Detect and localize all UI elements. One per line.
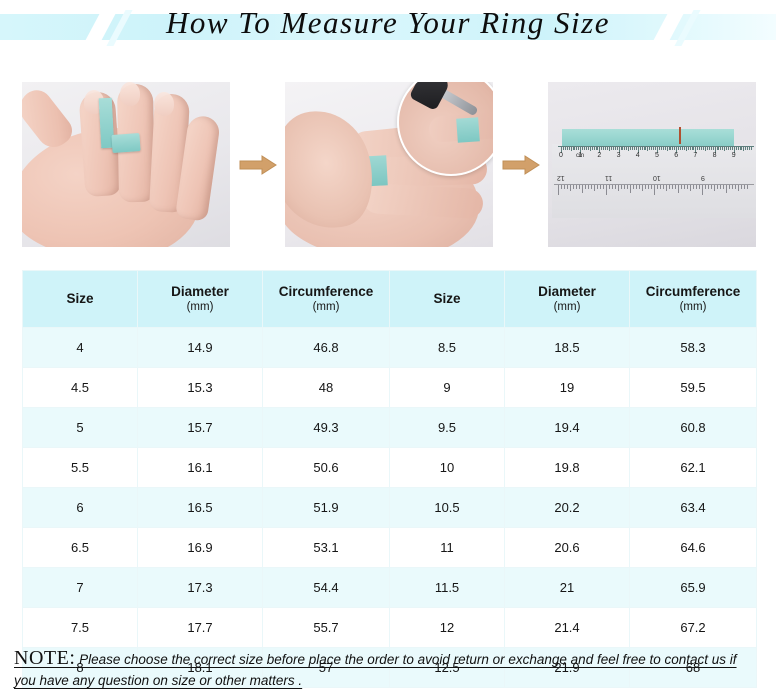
ruler-tick-minor — [582, 147, 583, 150]
ruler-inch-number: 10 — [653, 174, 661, 181]
ruler-inch-tick-minor — [639, 185, 640, 189]
ruler-inch-tick-minor — [648, 185, 649, 189]
ruler-tick-minor — [728, 147, 729, 150]
ruler-inch-tick-minor — [735, 185, 736, 189]
ruler-tick-minor — [663, 147, 664, 150]
ruler-tick-minor — [680, 147, 681, 150]
ruler-tick-minor — [615, 147, 616, 150]
ruler-tick-minor — [667, 147, 668, 151]
ruler-tick-minor — [717, 147, 718, 150]
cell-size: 7 — [23, 568, 138, 608]
note-body: Please choose the correct size before pl… — [14, 652, 737, 688]
ruler-tick-minor — [563, 147, 564, 150]
cell-size: 6.5 — [23, 528, 138, 568]
strip-pen-mark — [679, 127, 681, 144]
paper-strip-wrapped — [111, 133, 140, 153]
ruler-tick-minor — [651, 147, 652, 150]
ruler-tick-minor — [586, 147, 587, 150]
ruler-tick-minor — [628, 147, 629, 151]
ruler-inch-tick-minor — [642, 185, 643, 191]
ruler-tick-minor — [699, 147, 700, 150]
ruler-tick-minor — [697, 147, 698, 150]
ruler-tick-minor — [571, 147, 572, 151]
ruler-inch-tick-minor — [669, 185, 670, 189]
col-header-circumference-left: Circumference (mm) — [263, 271, 390, 328]
ruler-inch-tick-minor — [741, 185, 742, 189]
ruler-inch-tick-major — [654, 185, 655, 195]
ruler-tick-minor — [686, 147, 687, 151]
cell-size: 5.5 — [23, 448, 138, 488]
fingernail — [120, 82, 140, 106]
ruler-inch-tick-minor — [684, 185, 685, 189]
ruler-inch-number: 12 — [557, 174, 565, 181]
ruler-inch-tick-minor — [570, 185, 571, 191]
table-row: 6.516.953.11120.664.6 — [23, 528, 757, 568]
cell-circumference: 67.2 — [630, 608, 757, 648]
title-banner: How To Measure Your Ring Size — [0, 0, 776, 52]
header-row: Size Diameter (mm) Circumference (mm) Si… — [23, 271, 757, 328]
ruler-inch-tick-minor — [681, 185, 682, 189]
ruler-inch-tick-minor — [636, 185, 637, 189]
table-row: 717.354.411.52165.9 — [23, 568, 757, 608]
cell-diameter: 14.9 — [138, 328, 263, 368]
ruler-inch-tick-minor — [714, 185, 715, 191]
ruler-inch-tick-minor — [564, 185, 565, 189]
ruler-inch-tick-minor — [687, 185, 688, 189]
ruler-tick-minor — [743, 147, 744, 151]
ruler-tick-minor — [624, 147, 625, 150]
measure-steps: 0123456789 cm 1211109 — [0, 52, 776, 260]
ruler-inch-tick-minor — [618, 185, 619, 191]
ruler-tick-minor — [574, 147, 575, 150]
ruler-inch-tick-minor — [573, 185, 574, 189]
ruler-inch-tick-minor — [561, 185, 562, 189]
table-row: 5.516.150.61019.862.1 — [23, 448, 757, 488]
cell-circumference: 64.6 — [630, 528, 757, 568]
ruler-tick-minor — [738, 147, 739, 150]
ruler-inch-tick-minor — [738, 185, 739, 191]
ruler-tick-minor — [713, 147, 714, 150]
ruler-unit-label: cm — [576, 153, 584, 159]
cell-circumference: 59.5 — [630, 368, 757, 408]
ruler-cm-number: 7 — [693, 152, 697, 159]
ruler-tick-minor — [609, 147, 610, 151]
ruler-tick-minor — [659, 147, 660, 150]
ruler-inch-tick-minor — [708, 185, 709, 189]
ruler-tick-minor — [722, 147, 723, 150]
ruler-tick-minor — [741, 147, 742, 150]
ruler-tick-minor — [653, 147, 654, 150]
ruler-inch-tick-minor — [576, 185, 577, 189]
arrow-right-icon — [501, 154, 541, 176]
cell-circumference: 55.7 — [263, 608, 390, 648]
ruler-tick-minor — [607, 147, 608, 150]
ruler-tick-minor — [645, 147, 646, 150]
paper-strip-flat — [562, 129, 734, 146]
ruler-tick-minor — [724, 147, 725, 151]
note-label: NOTE: — [14, 647, 75, 669]
ruler-tick-minor — [630, 147, 631, 150]
cell-circumference: 65.9 — [630, 568, 757, 608]
ruler-tick-minor — [647, 147, 648, 151]
ruler-inch-tick-minor — [579, 185, 580, 189]
ruler-inch-tick-minor — [627, 185, 628, 189]
ruler-tick-minor — [592, 147, 593, 150]
ruler-inch-tick-minor — [594, 185, 595, 191]
cell-size: 9 — [390, 368, 505, 408]
cell-circumference: 49.3 — [263, 408, 390, 448]
ruler-cm-number: 0 — [559, 152, 563, 159]
ruler-tick-minor — [636, 147, 637, 150]
cell-diameter: 17.3 — [138, 568, 263, 608]
ruler-inch-tick-major — [702, 185, 703, 195]
ruler-inch-tick-minor — [621, 185, 622, 189]
table-row: 414.946.88.518.558.3 — [23, 328, 757, 368]
page-title: How To Measure Your Ring Size — [0, 0, 776, 46]
ruler-inch-tick-minor — [630, 185, 631, 193]
ruler-inch-tick-minor — [663, 185, 664, 189]
ruler-tick-minor — [611, 147, 612, 150]
ruler-inch-number: 11 — [605, 174, 612, 181]
ruler-tick-minor — [655, 147, 656, 150]
ruler-inch-tick-minor — [600, 185, 601, 189]
cell-size: 4 — [23, 328, 138, 368]
cell-size: 8.5 — [390, 328, 505, 368]
ruler-tick-minor — [749, 147, 750, 150]
ruler-tick-minor — [634, 147, 635, 150]
table-row: 7.517.755.71221.467.2 — [23, 608, 757, 648]
cell-diameter: 19.4 — [505, 408, 630, 448]
ruler-inch-tick-minor — [675, 185, 676, 189]
ruler-tick-minor — [573, 147, 574, 150]
ruler-tick-minor — [617, 147, 618, 150]
ruler-tick-minor — [649, 147, 650, 150]
ruler-inch-tick-minor — [567, 185, 568, 189]
cell-diameter: 18.5 — [505, 328, 630, 368]
ruler-tick-minor — [707, 147, 708, 150]
cell-circumference: 48 — [263, 368, 390, 408]
ruler-tick-minor — [569, 147, 570, 150]
ruler-inch-tick-major — [606, 185, 607, 195]
ruler-tick-minor — [711, 147, 712, 150]
ruler-inch-number: 9 — [701, 174, 705, 181]
step-photo-mark-the-strip — [285, 82, 493, 247]
cell-diameter: 19 — [505, 368, 630, 408]
ruler-tick-minor — [705, 147, 706, 151]
cell-diameter: 20.2 — [505, 488, 630, 528]
ruler-tick-minor — [590, 147, 591, 151]
ruler-inch-tick-minor — [582, 185, 583, 193]
cell-size: 4.5 — [23, 368, 138, 408]
ruler-inch-tick-minor — [726, 185, 727, 193]
ruler-tick-minor — [626, 147, 627, 150]
ruler-inch-tick-minor — [699, 185, 700, 189]
col-header-diameter-right: Diameter (mm) — [505, 271, 630, 328]
cell-size: 12 — [390, 608, 505, 648]
ruler-tick-minor — [596, 147, 597, 150]
ruler-inch-tick-minor — [723, 185, 724, 189]
ruler-inch-tick-minor — [603, 185, 604, 189]
table-header: Size Diameter (mm) Circumference (mm) Si… — [23, 271, 757, 328]
ruler-inch-tick-minor — [597, 185, 598, 189]
ruler-tick-minor — [622, 147, 623, 150]
ruler-tick-minor — [745, 147, 746, 150]
ruler-tick-minor — [688, 147, 689, 150]
ruler-tick-minor — [730, 147, 731, 150]
ruler-inch-tick-minor — [732, 185, 733, 189]
ruler-cm-number: 8 — [713, 152, 717, 159]
ruler-inch-tick-minor — [585, 185, 586, 189]
ruler-tick-minor — [720, 147, 721, 150]
ruler-tick-minor — [661, 147, 662, 150]
ruler-inch-tick-minor — [747, 185, 748, 189]
ruler-inch-tick-minor — [588, 185, 589, 189]
ruler-tick-minor — [644, 147, 645, 150]
cell-circumference: 51.9 — [263, 488, 390, 528]
step-photo-measure-with-ruler: 0123456789 cm 1211109 — [548, 82, 756, 247]
ruler-inch-tick-minor — [657, 185, 658, 189]
arrow-right-icon — [238, 154, 278, 176]
cell-size: 11.5 — [390, 568, 505, 608]
ruler-inch-tick-minor — [693, 185, 694, 189]
ruler-tick-minor — [678, 147, 679, 150]
ruler-tick-minor — [594, 147, 595, 150]
col-header-size-left: Size — [23, 271, 138, 328]
ruler-inch-tick-minor — [744, 185, 745, 189]
cell-diameter: 19.8 — [505, 448, 630, 488]
cell-size: 9.5 — [390, 408, 505, 448]
ruler-tick-minor — [567, 147, 568, 150]
ruler-tick-minor — [670, 147, 671, 150]
ruler-cm-number: 4 — [636, 152, 640, 159]
ruler-tick-minor — [693, 147, 694, 150]
ruler-tick-minor — [565, 147, 566, 150]
cell-circumference: 62.1 — [630, 448, 757, 488]
cell-size: 6 — [23, 488, 138, 528]
ruler-tick-minor — [613, 147, 614, 150]
ruler-inch-tick-minor — [591, 185, 592, 189]
ruler-tick-minor — [747, 147, 748, 150]
ruler-tick-minor — [736, 147, 737, 150]
ruler-tick-minor — [701, 147, 702, 150]
cell-circumference: 50.6 — [263, 448, 390, 488]
ruler-tick-minor — [605, 147, 606, 150]
ruler-cm-number: 5 — [655, 152, 659, 159]
cell-diameter: 16.1 — [138, 448, 263, 488]
fingernail — [154, 92, 174, 116]
ruler-cm-number: 6 — [674, 152, 678, 159]
cell-diameter: 20.6 — [505, 528, 630, 568]
ruler-tick-minor — [751, 147, 752, 150]
step-photo-wrap-strip-around-finger — [22, 82, 230, 247]
cell-circumference: 58.3 — [630, 328, 757, 368]
ruler-inch-tick-minor — [729, 185, 730, 189]
col-header-size-right: Size — [390, 271, 505, 328]
cell-size: 5 — [23, 408, 138, 448]
ruler-tick-minor — [684, 147, 685, 150]
table-row: 616.551.910.520.263.4 — [23, 488, 757, 528]
cell-diameter: 17.7 — [138, 608, 263, 648]
cell-circumference: 53.1 — [263, 528, 390, 568]
cell-circumference: 46.8 — [263, 328, 390, 368]
ruler-inch-tick-minor — [705, 185, 706, 189]
ruler-tick-minor — [665, 147, 666, 150]
ruler-tick-minor — [672, 147, 673, 150]
cell-diameter: 16.9 — [138, 528, 263, 568]
ruler-tick-minor — [690, 147, 691, 150]
cell-diameter: 21.4 — [505, 608, 630, 648]
ruler-tick-minor — [640, 147, 641, 150]
ruler-tick-minor — [740, 147, 741, 150]
pen-tip — [439, 89, 478, 117]
ruler-inch-tick-minor — [615, 185, 616, 189]
col-header-circumference-right: Circumference (mm) — [630, 271, 757, 328]
ruler-inch-tick-minor — [720, 185, 721, 189]
ruler-inch-tick-minor — [717, 185, 718, 189]
ruler-inch-tick-minor — [711, 185, 712, 189]
ruler-inch-tick-minor — [666, 185, 667, 191]
ruler-tick-minor — [584, 147, 585, 150]
ruler-cm-number: 2 — [597, 152, 601, 159]
cell-size: 10.5 — [390, 488, 505, 528]
cell-circumference: 63.4 — [630, 488, 757, 528]
table-body: 414.946.88.518.558.34.515.34891959.5515.… — [23, 328, 757, 688]
ruler-tick-minor — [718, 147, 719, 150]
cell-circumference: 60.8 — [630, 408, 757, 448]
ruler-inch-tick-minor — [609, 185, 610, 189]
col-header-diameter-left: Diameter (mm) — [138, 271, 263, 328]
cell-diameter: 21 — [505, 568, 630, 608]
ruler-inch-tick-minor — [660, 185, 661, 189]
table-row: 515.749.39.519.460.8 — [23, 408, 757, 448]
cell-diameter: 15.3 — [138, 368, 263, 408]
finger-pinky — [362, 183, 483, 219]
ruler-inch-tick-minor — [612, 185, 613, 189]
ruler-tick-minor — [603, 147, 604, 150]
ruler-tick-minor — [692, 147, 693, 150]
ruler-tick-minor — [732, 147, 733, 150]
cell-size: 11 — [390, 528, 505, 568]
ruler-inch-tick-minor — [624, 185, 625, 189]
ruler-tick-minor — [682, 147, 683, 150]
ruler-tick-minor — [578, 147, 579, 150]
ruler-tick-minor — [726, 147, 727, 150]
table-row: 4.515.34891959.5 — [23, 368, 757, 408]
ruler-tick-minor — [674, 147, 675, 150]
ruler-inch-tick-minor — [645, 185, 646, 189]
ruler-cm-number: 3 — [617, 152, 621, 159]
ruler-tick-minor — [703, 147, 704, 150]
ruler-tick-minor — [588, 147, 589, 150]
ruler-tick-minor — [709, 147, 710, 150]
cell-circumference: 54.4 — [263, 568, 390, 608]
ruler-tick-minor — [669, 147, 670, 150]
inset-paper-strip — [456, 117, 480, 142]
ruler-inch-tick-major — [558, 185, 559, 195]
cell-size: 10 — [390, 448, 505, 488]
ruler-tick-minor — [632, 147, 633, 150]
ruler-inch-tick-minor — [678, 185, 679, 193]
ruler-tick-minor — [642, 147, 643, 150]
ruler-cm-number: 9 — [732, 152, 736, 159]
ruler-inch-tick-minor — [633, 185, 634, 189]
ruler-tick-minor — [576, 147, 577, 150]
ruler-inch-tick-minor — [651, 185, 652, 189]
ring-size-table: Size Diameter (mm) Circumference (mm) Si… — [22, 270, 757, 688]
ruler-inch-tick-minor — [690, 185, 691, 191]
ruler-inch-tick-minor — [696, 185, 697, 189]
ruler-tick-minor — [597, 147, 598, 150]
ring-size-table-wrap: Size Diameter (mm) Circumference (mm) Si… — [22, 270, 756, 688]
ruler-inch-tick-minor — [672, 185, 673, 189]
cell-size: 7.5 — [23, 608, 138, 648]
ruler-tick-minor — [621, 147, 622, 150]
cell-diameter: 16.5 — [138, 488, 263, 528]
cell-diameter: 15.7 — [138, 408, 263, 448]
ruler-tick-minor — [601, 147, 602, 150]
note-text: NOTE: Please choose the correct size bef… — [14, 648, 762, 691]
